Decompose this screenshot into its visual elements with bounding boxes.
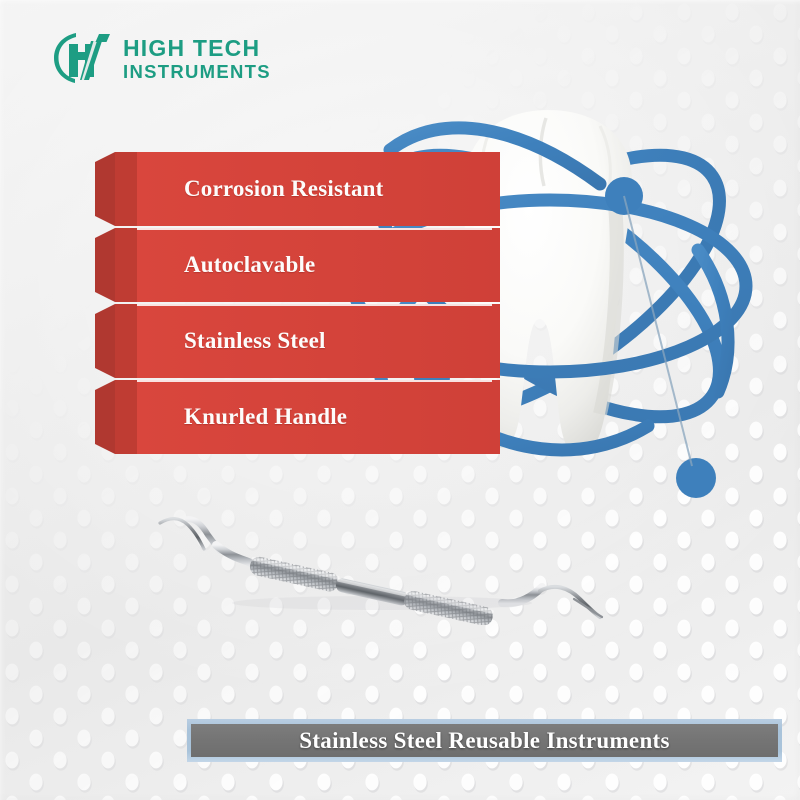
feature-label: Knurled Handle — [137, 404, 347, 430]
ribbon-tail-icon — [95, 380, 141, 454]
dental-scaler-icon — [150, 495, 610, 625]
feature-label: Corrosion Resistant — [137, 176, 384, 202]
caption-inner: Stainless Steel Reusable Instruments — [191, 724, 778, 757]
feature-list: Corrosion Resistant Autoclavable Stainle… — [95, 152, 500, 456]
feature-ribbon[interactable]: Stainless Steel — [95, 304, 500, 378]
brand-logo[interactable]: HIGH TECH INSTRUMENTS — [52, 30, 271, 86]
caption-bar: Stainless Steel Reusable Instruments — [187, 719, 782, 762]
brand-wordmark: HIGH TECH INSTRUMENTS — [123, 35, 271, 82]
feature-ribbon[interactable]: Corrosion Resistant — [95, 152, 500, 226]
ribbon-tail-icon — [95, 304, 141, 378]
high-tech-h-mark-icon — [52, 30, 114, 86]
brand-line-2: INSTRUMENTS — [123, 63, 271, 82]
feature-ribbon[interactable]: Knurled Handle — [95, 380, 500, 454]
caption-text: Stainless Steel Reusable Instruments — [299, 728, 670, 754]
ribbon-tail-icon — [95, 152, 141, 226]
ribbon-body: Corrosion Resistant — [137, 152, 500, 226]
product-poster: HIGH TECH INSTRUMENTS — [0, 0, 800, 800]
ribbon-body: Autoclavable — [137, 228, 500, 302]
feature-label: Stainless Steel — [137, 328, 326, 354]
dental-scaler-photo — [150, 495, 610, 625]
brand-line-1: HIGH TECH — [123, 37, 271, 60]
feature-ribbon[interactable]: Autoclavable — [95, 228, 500, 302]
feature-label: Autoclavable — [137, 252, 315, 278]
ribbon-body: Knurled Handle — [137, 380, 500, 454]
ribbon-tail-icon — [95, 228, 141, 302]
ribbon-body: Stainless Steel — [137, 304, 500, 378]
